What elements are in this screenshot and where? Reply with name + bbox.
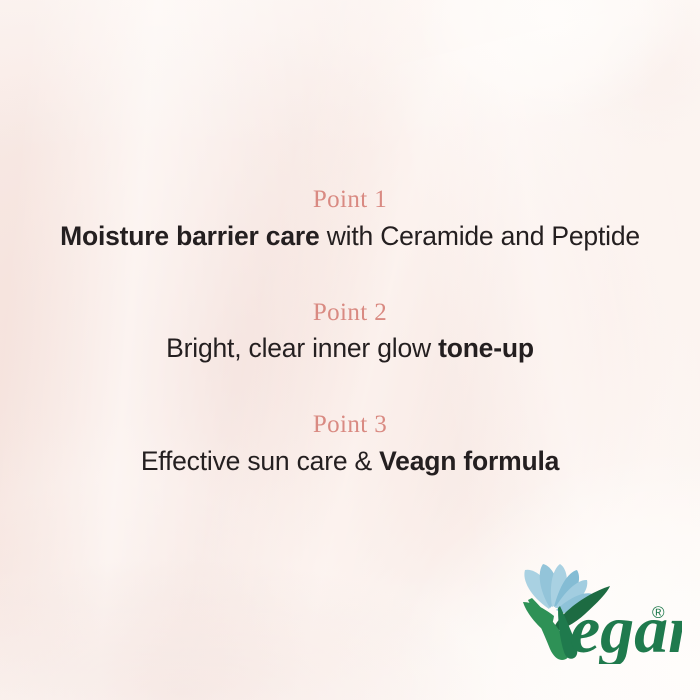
feature-point-1: Point 1 Moisture barrier care with Ceram… [0, 186, 700, 253]
feature-point-2: Point 2 Bright, clear inner glow tone-up [0, 299, 700, 366]
point-3-text: Effective sun care & Veagn formula [0, 445, 700, 478]
point-1-text-regular: with Ceramide and Peptide [320, 221, 640, 251]
banner-canvas: Point 1 Moisture barrier care with Ceram… [0, 0, 700, 700]
point-1-text-bold: Moisture barrier care [60, 221, 319, 251]
point-1-label: Point 1 [0, 186, 700, 214]
point-1-text: Moisture barrier care with Ceramide and … [0, 220, 700, 253]
point-2-text-bold: tone-up [438, 333, 534, 363]
registered-trademark-icon: ® [652, 603, 665, 622]
point-3-text-regular: Effective sun care & [141, 446, 379, 476]
feature-points-list: Point 1 Moisture barrier care with Ceram… [0, 186, 700, 478]
vegan-logo: egan ® [492, 546, 682, 664]
point-2-text: Bright, clear inner glow tone-up [0, 332, 700, 365]
point-3-text-bold: Veagn formula [379, 446, 559, 476]
vegan-logo-artwork: egan ® [492, 546, 682, 664]
vegan-wordmark: egan [570, 591, 682, 664]
point-2-text-regular: Bright, clear inner glow [166, 333, 438, 363]
feature-point-3: Point 3 Effective sun care & Veagn formu… [0, 411, 700, 478]
point-2-label: Point 2 [0, 299, 700, 327]
point-3-label: Point 3 [0, 411, 700, 439]
